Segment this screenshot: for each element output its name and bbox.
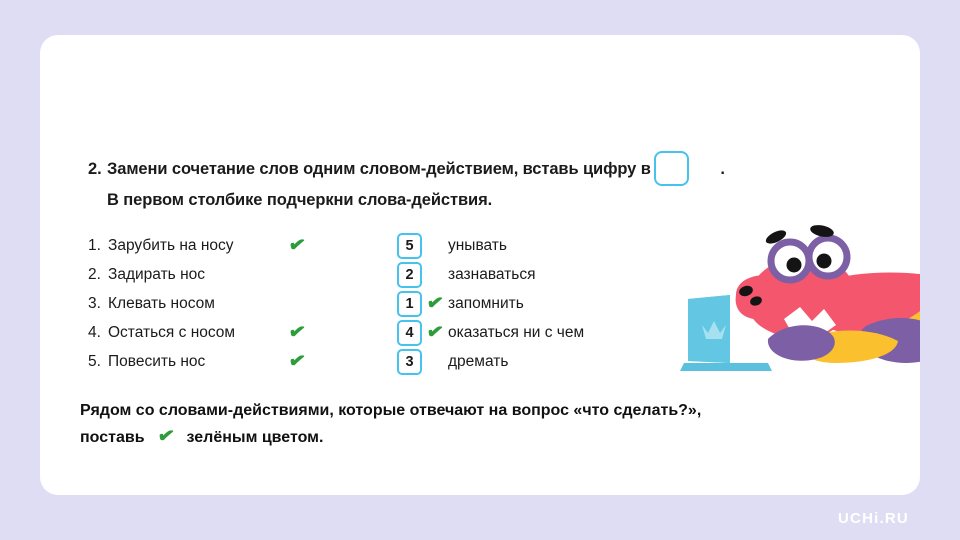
list-item[interactable]: 4 ✔ оказаться ни с чем [397,318,697,347]
check-icon: ✔ [425,322,444,343]
check-icon: ✔ [287,322,306,343]
dragon-pupil-icon [817,254,832,269]
uchi-ru-logo: UCHi.RU [838,510,909,527]
number-box[interactable]: 2 [397,262,422,288]
number-box[interactable]: 3 [397,349,422,375]
task-statement-period: . [691,155,725,183]
task-number: 2. [88,155,107,183]
list-item[interactable]: 4. Остаться с носом ✔ [88,318,388,347]
task-statement-line-1: 2.Замени сочетание слов одним словом-дей… [88,151,848,186]
number-box[interactable]: 1 [397,291,422,317]
answer-input-box[interactable] [654,151,689,186]
bottom-instruction-text-after: зелёным цветом. [187,429,324,446]
list-item-word: дремать [448,353,508,371]
bottom-instruction-line-1: Рядом со словами-действиями, которые отв… [80,397,910,424]
bottom-instruction: Рядом со словами-действиями, которые отв… [80,397,910,451]
list-item[interactable]: 1. Зарубить на носу ✔ [88,231,388,260]
list-item[interactable]: 2. Задирать нос [88,260,388,289]
list-item[interactable]: 1 ✔ запомнить [397,289,697,318]
check-slot: ✔ [422,294,448,313]
lesson-card: 2.Замени сочетание слов одним словом-дей… [40,35,920,495]
task-statement: 2.Замени сочетание слов одним словом-дей… [88,151,848,214]
list-item-word: запомнить [448,295,524,313]
dragon-pupil-icon [787,258,802,273]
bottom-instruction-line-2: поставь✔зелёным цветом. [80,424,910,451]
list-item-word: оказаться ни с чем [448,324,584,342]
number-box[interactable]: 4 [397,320,422,346]
check-icon: ✔ [287,351,306,372]
list-item-phrase: Зарубить на носу [108,237,284,255]
check-slot: ✔ [422,323,448,342]
list-item-word: унывать [448,237,507,255]
answers-column: 5 унывать 2 зазнаваться 1 ✔ запомнить 4 … [397,231,697,376]
task-statement-line-2: В первом столбике подчеркни слова-действ… [88,186,848,214]
list-item[interactable]: 5 унывать [397,231,697,260]
list-item-phrase: Клевать носом [108,295,284,313]
check-slot: ✔ [284,352,310,371]
list-item-phrase: Задирать нос [108,266,284,284]
list-item-phrase: Остаться с носом [108,324,284,342]
dragon-mascot-illustration [672,221,920,381]
list-item-word: зазнаваться [448,266,536,284]
check-icon: ✔ [287,235,306,256]
list-item-phrase: Повесить нос [108,353,284,371]
check-icon: ✔ [145,424,187,451]
check-icon: ✔ [425,293,444,314]
number-box[interactable]: 5 [397,233,422,259]
list-item-index: 3. [88,295,108,313]
list-item[interactable]: 5. Повесить нос ✔ [88,347,388,376]
phrases-column: 1. Зарубить на носу ✔ 2. Задирать нос 3.… [88,231,388,376]
list-item[interactable]: 2 зазнаваться [397,260,697,289]
task-statement-text-1: Замени сочетание слов одним словом-дейст… [107,160,651,178]
check-slot: ✔ [284,323,310,342]
list-item[interactable]: 3. Клевать носом [88,289,388,318]
list-item-index: 2. [88,266,108,284]
list-item-index: 5. [88,353,108,371]
slide-root: 2.Замени сочетание слов одним словом-дей… [0,0,960,540]
list-item-index: 1. [88,237,108,255]
check-glyph: ✔ [156,426,175,447]
bottom-instruction-text-before: поставь [80,429,145,446]
list-item[interactable]: 3 дремать [397,347,697,376]
check-slot: ✔ [284,236,310,255]
list-item-index: 4. [88,324,108,342]
